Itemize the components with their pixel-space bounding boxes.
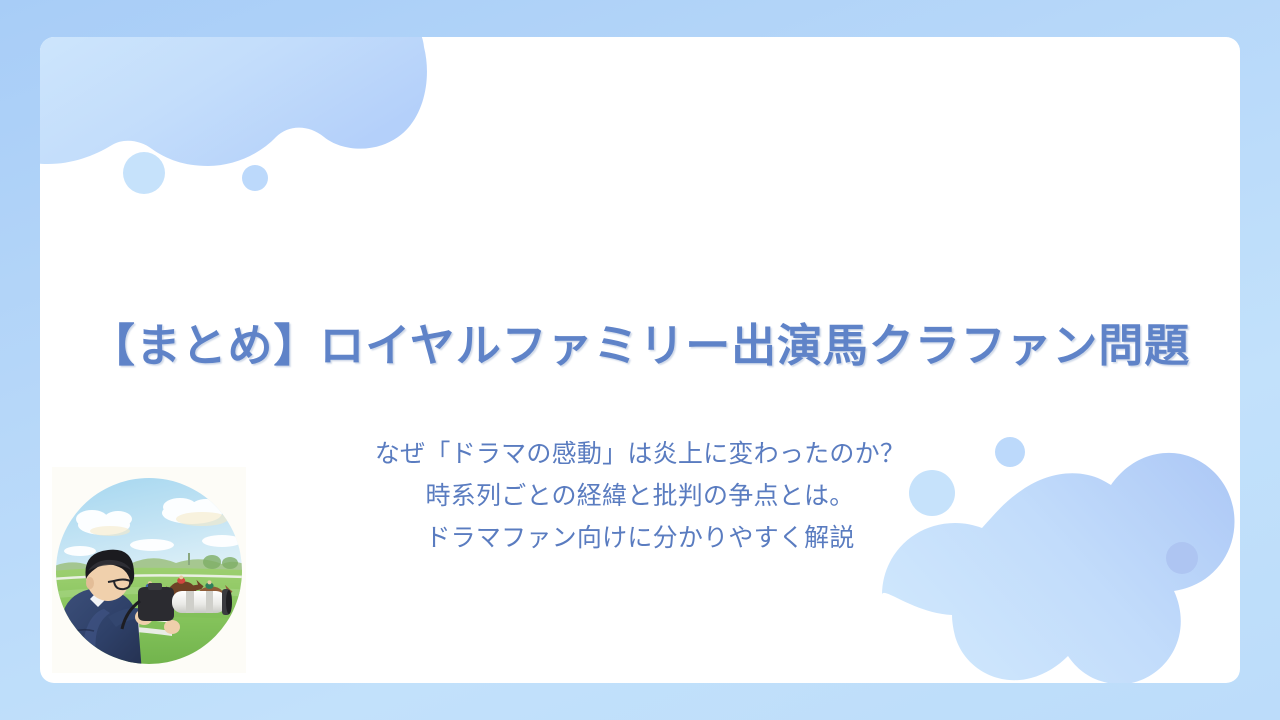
subtitle-container: なぜ「ドラマの感動」は炎上に変わったのか？ 時系列ごとの経緯と批判の争点とは。 …	[40, 433, 1240, 559]
subtitle-line-2: 時系列ごとの経緯と批判の争点とは。	[40, 475, 1240, 517]
page-title: 【まとめ】ロイヤルファミリー出演馬クラファン問題	[90, 320, 1190, 372]
content-card: 【まとめ】ロイヤルファミリー出演馬クラファン問題 なぜ「ドラマの感動」は炎上に変…	[40, 37, 1240, 683]
decorative-cloud-top-left	[40, 37, 436, 203]
title-container: 【まとめ】ロイヤルファミリー出演馬クラファン問題	[40, 320, 1240, 372]
subtitle-line-1: なぜ「ドラマの感動」は炎上に変わったのか？	[40, 433, 1240, 475]
subtitle-line-3: ドラマファン向けに分かりやすく解説	[40, 517, 1240, 559]
slide-canvas: 【まとめ】ロイヤルファミリー出演馬クラファン問題 なぜ「ドラマの感動」は炎上に変…	[0, 0, 1280, 720]
